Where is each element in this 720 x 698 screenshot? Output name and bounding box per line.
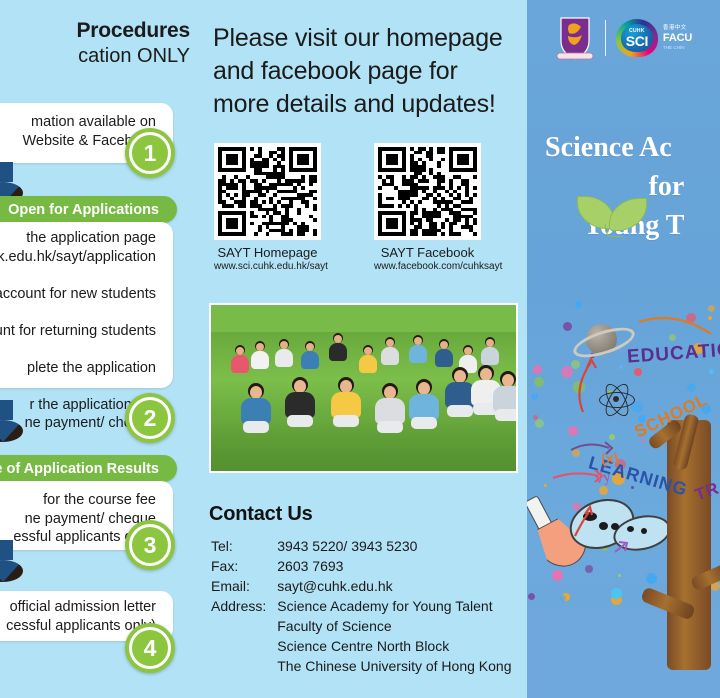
photo-person (239, 383, 273, 437)
academy-title-line-1: Science Ac (527, 128, 720, 167)
x-function-symbol: (x) (600, 449, 619, 467)
qr-code-homepage-icon[interactable] (214, 143, 321, 240)
contact-value: 2603 7693 (277, 557, 511, 575)
center-headline-line-3: more details and updates! (213, 90, 496, 118)
contact-row: The Chinese University of Hong Kong (211, 657, 511, 675)
contact-value: Faculty of Science (277, 617, 511, 635)
contact-label: Address: (211, 597, 275, 615)
tree-trunk-icon (645, 420, 720, 698)
contact-value: sayt@cuhk.edu.hk (277, 577, 511, 595)
confetti-dot (573, 381, 585, 393)
step-3-badge: 3 (125, 520, 175, 570)
confetti-dot (669, 334, 676, 341)
word-education: EDUCATIO (626, 339, 720, 368)
photo-person (299, 341, 321, 375)
photo-person (379, 337, 401, 371)
contact-label: Tel: (211, 537, 275, 555)
step-2-line-3: new account for new students (0, 286, 156, 302)
step-1-number: 1 (144, 142, 157, 165)
contact-label: Email: (211, 577, 275, 595)
contact-row: Faculty of Science (211, 617, 511, 635)
leaves-icon (577, 196, 647, 240)
step-1-badge: 1 (125, 128, 175, 178)
confetti-dot (611, 588, 622, 599)
photo-person (373, 383, 407, 437)
step-3-line-1: for the course fee (43, 492, 156, 508)
faculty-of-science-logo: CUHK SCI 香港中文 FACU THE CHIN (616, 19, 692, 57)
contact-row: Science Centre North Block (211, 637, 511, 655)
atom-icon (599, 382, 633, 416)
group-photo (209, 303, 518, 473)
qr-url-facebook: www.facebook.com/cuhksayt (374, 260, 481, 273)
photo-person (229, 345, 251, 379)
step-4-badge: 4 (125, 623, 175, 673)
contact-row: Tel:3943 5220/ 3943 5230 (211, 537, 511, 555)
contact-value: Science Centre North Block (277, 637, 511, 655)
contact-table: Tel:3943 5220/ 3943 5230Fax:2603 7693Ema… (209, 535, 513, 677)
confetti-dot (533, 365, 542, 374)
confetti-dot (709, 369, 714, 374)
confetti-dot (631, 486, 634, 489)
qr-url-homepage: www.sci.cuhk.edu.hk/sayt (214, 260, 321, 273)
photo-person (407, 335, 429, 369)
cuhk-crest-icon (555, 15, 595, 61)
confetti-dot (534, 377, 544, 387)
photo-person (283, 377, 317, 431)
confetti-dot (535, 419, 544, 428)
step-3-bar: ase of Application Results (0, 455, 177, 482)
confetti-dot (572, 449, 580, 457)
left-panel-subtitle: cation ONLY (0, 44, 190, 69)
logo-row: CUHK SCI 香港中文 FACU THE CHIN (527, 12, 720, 64)
qr-caption-facebook: SAYT Facebook (374, 245, 481, 260)
contact-row: Email:sayt@cuhk.edu.hk (211, 577, 511, 595)
arrow-3-icon (0, 540, 23, 560)
contact-label: Fax: (211, 557, 275, 575)
qr-block-homepage[interactable]: SAYT Homepage www.sci.cuhk.edu.hk/sayt (214, 143, 321, 273)
contact-row: Address:Science Academy for Young Talent (211, 597, 511, 615)
step-2-line-4: OR (0, 303, 156, 322)
qr-code-facebook-icon[interactable] (374, 143, 481, 240)
photo-person (357, 345, 379, 379)
confetti-dot (571, 360, 580, 369)
sci-badge-icon: CUHK SCI (616, 19, 658, 57)
logo-divider (605, 20, 606, 56)
step-3-number: 3 (144, 534, 157, 557)
confetti-dot (563, 322, 572, 331)
center-headline-line-1: Please visit our homepage (213, 24, 503, 52)
confetti-dot (618, 574, 621, 577)
step-1-line-1: mation available on (31, 114, 156, 130)
confetti-dot (568, 426, 578, 436)
left-panel-title: Procedures (0, 18, 190, 43)
confetti-dot (619, 365, 623, 369)
step-2-line-2: hk.edu.hk/sayt/application (0, 249, 156, 265)
saturn-planet-icon (572, 320, 630, 358)
photo-person (273, 339, 295, 373)
qr-caption-homepage: SAYT Homepage (214, 245, 321, 260)
sci-text: SCI (626, 34, 648, 48)
photo-person (491, 371, 518, 425)
sqrt-symbol: √y (594, 469, 612, 488)
step-2-line-6: plete the application (27, 360, 156, 376)
confetti-dot (560, 595, 566, 601)
center-headline: Please visit our homepage and facebook p… (213, 22, 523, 121)
confetti-dot (561, 366, 573, 378)
confetti-dot (708, 305, 715, 312)
confetti-dot (708, 316, 712, 320)
application-procedures-panel: Procedures cation ONLY mation available … (0, 0, 190, 698)
contact-value: 3943 5220/ 3943 5230 (277, 537, 511, 555)
step-2-number: 2 (144, 407, 157, 430)
step-4-line-1: official admission letter (10, 599, 156, 615)
confetti-dot (634, 368, 642, 376)
contact-label (211, 657, 275, 675)
photo-person (327, 333, 349, 367)
confetti-dot (609, 434, 615, 440)
confetti-dot (686, 313, 696, 323)
photo-person (407, 379, 441, 433)
faculty-english-text: FACU (663, 32, 692, 44)
arrow-2-icon (0, 400, 23, 420)
confetti-dot (687, 383, 696, 392)
brochure-page: Procedures cation ONLY mation available … (0, 0, 720, 698)
confetti-dot (528, 593, 535, 600)
step-2-line-5: ccount for returning students (0, 323, 156, 339)
step-2-bar: Open for Applications (0, 196, 177, 223)
confetti-dot (531, 393, 538, 400)
faculty-chinese-text: 香港中文 (663, 25, 692, 32)
arrow-1-icon (0, 162, 23, 182)
confetti-dot (544, 484, 547, 487)
confetti-dot (575, 301, 582, 308)
contact-title: Contact Us (209, 503, 313, 526)
contact-label (211, 637, 275, 655)
confetti-dot (533, 415, 538, 420)
qr-row: SAYT Homepage www.sci.cuhk.edu.hk/sayt S… (214, 143, 520, 273)
photo-person (249, 341, 271, 375)
photo-person (329, 377, 363, 431)
qr-block-facebook[interactable]: SAYT Facebook www.facebook.com/cuhksayt (374, 143, 481, 273)
contact-value: Science Academy for Young Talent (277, 597, 511, 615)
step-2-line-1: the application page (26, 230, 156, 246)
contact-row: Fax:2603 7693 (211, 557, 511, 575)
step-3-bar-label: ase of Application Results (0, 461, 159, 477)
step-4-number: 4 (144, 637, 157, 660)
step-2-bar-label: Open for Applications (8, 202, 159, 218)
center-headline-line-2: and facebook page for (213, 57, 458, 85)
contact-value: The Chinese University of Hong Kong (277, 657, 511, 675)
step-2-badge: 2 (125, 393, 175, 443)
faculty-sub-text: THE CHIN (663, 44, 692, 51)
right-panel: CUHK SCI 香港中文 FACU THE CHIN Science Ac f… (527, 0, 720, 698)
knowledge-tree-illustration: EDUCATIO SCHOOL LEARNING TR (x) √y (527, 300, 720, 698)
step-2-line-7: & (0, 377, 156, 396)
contact-label (211, 617, 275, 635)
